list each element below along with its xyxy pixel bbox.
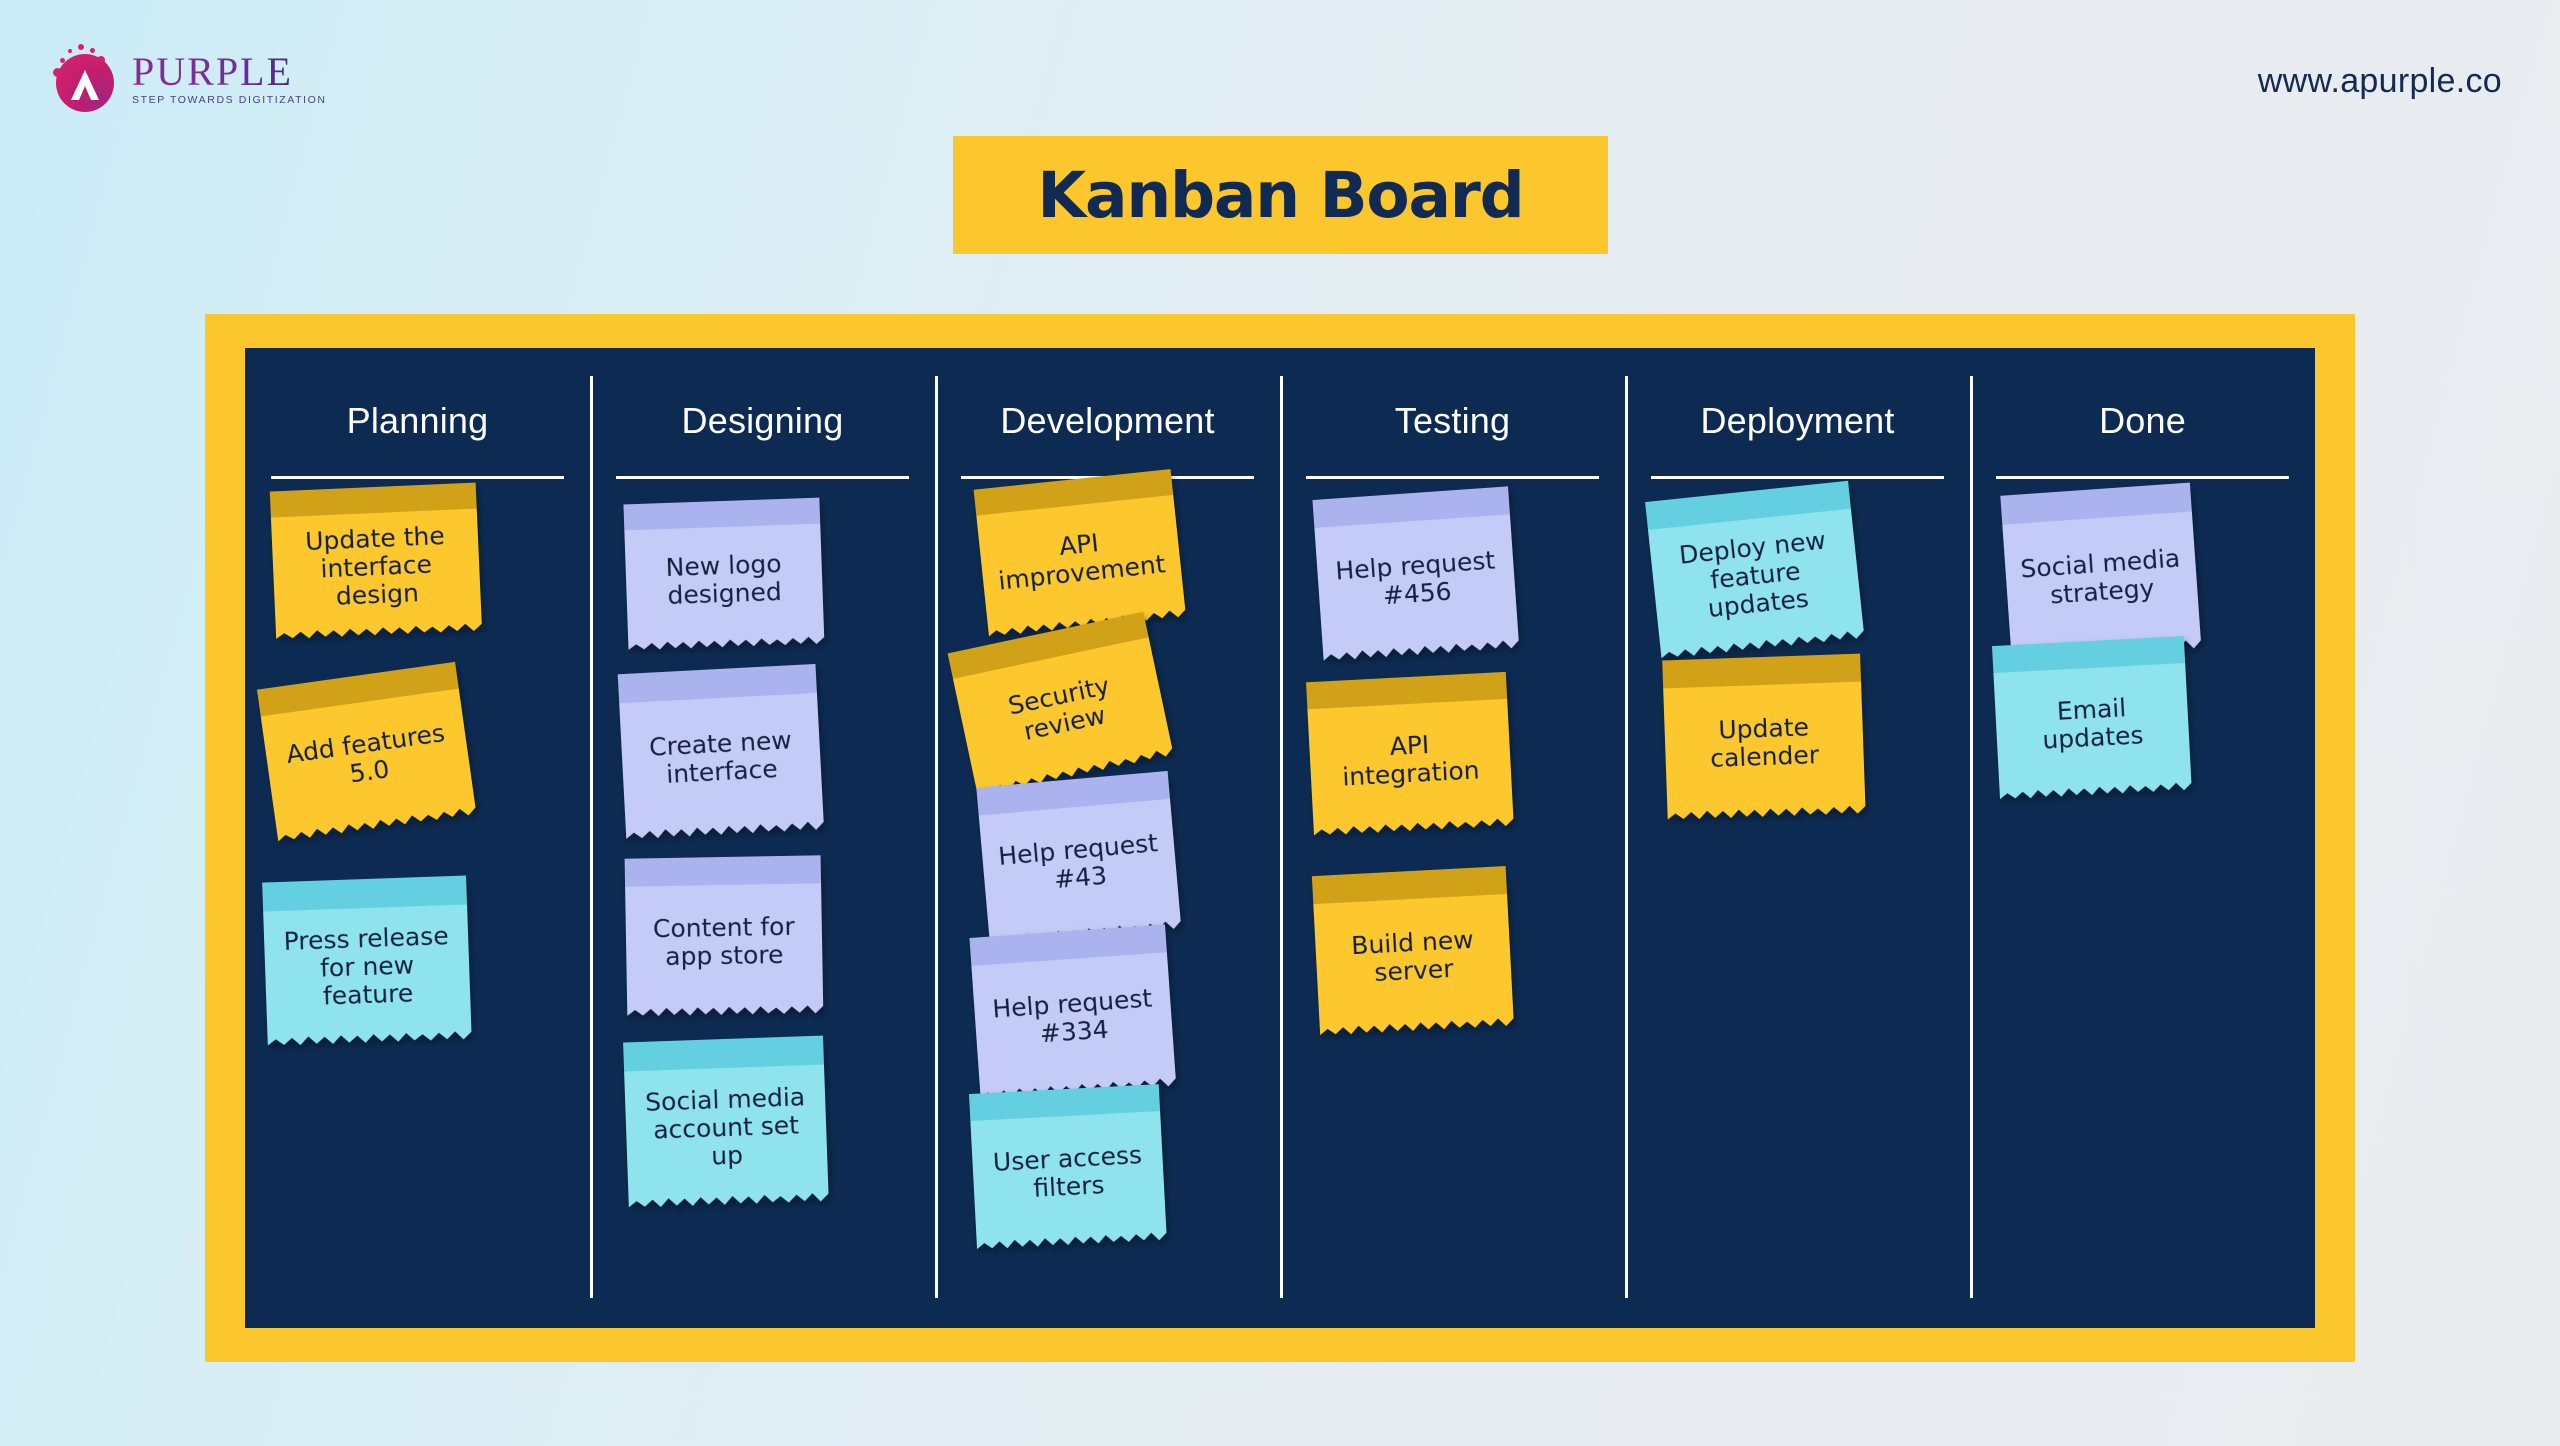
column-cards: Deploy new feature updatesUpdate calende… <box>1625 479 1970 1289</box>
column-cards: New logo designedCreate new interfaceCon… <box>590 479 935 1289</box>
brand-tagline: Step towards digitization <box>132 95 327 106</box>
sticky-note-text: Help request #334 <box>988 984 1159 1052</box>
sticky-note-text: Content for app store <box>640 913 809 972</box>
sticky-note-text: New logo designed <box>639 549 809 611</box>
sticky-note[interactable]: New logo designed <box>623 498 824 655</box>
sticky-note-text: Press release for new feature <box>278 922 457 1012</box>
sticky-note[interactable]: Deploy new feature updates <box>1645 481 1865 663</box>
sticky-note-glue-strip <box>618 664 817 703</box>
column-header-designing[interactable]: Designing <box>590 348 935 442</box>
sticky-note-glue-strip <box>1662 654 1861 689</box>
sticky-note-glue-strip <box>2000 483 2192 525</box>
sticky-note-text: Create new interface <box>635 726 808 791</box>
sticky-note-text: Build new server <box>1329 925 1498 990</box>
sticky-note-text: Email updates <box>2009 692 2176 757</box>
kanban-column-done: DoneSocial media strategyEmail updates <box>1970 348 2315 1328</box>
brand-name: PURPLE <box>132 52 327 92</box>
sticky-note[interactable]: Content for app store <box>625 855 824 1020</box>
kanban-column-designing: DesigningNew logo designedCreate new int… <box>590 348 935 1328</box>
sticky-note[interactable]: Add features 5.0 <box>257 662 477 846</box>
column-header-planning[interactable]: Planning <box>245 348 590 442</box>
column-cards: Help request #456API integrationBuild ne… <box>1280 479 1625 1289</box>
sticky-note-glue-strip <box>1312 486 1509 528</box>
sticky-note-text: Update the interface design <box>285 521 466 613</box>
sticky-note-glue-strip <box>262 875 467 911</box>
column-cards: Social media strategyEmail updates <box>1970 479 2315 1289</box>
kanban-column-planning: PlanningUpdate the interface designAdd f… <box>245 348 590 1328</box>
sticky-note[interactable]: API integration <box>1306 672 1514 840</box>
sticky-note-text: Social media strategy <box>2019 544 2185 611</box>
column-header-done[interactable]: Done <box>1970 348 2315 442</box>
kanban-column-deployment: DeploymentDeploy new feature updatesUpda… <box>1625 348 1970 1328</box>
sticky-note[interactable]: Email updates <box>1992 636 2192 804</box>
sticky-note-text: Social media account set up <box>639 1083 814 1173</box>
kanban-column-development: DevelopmentAPI improvementSecurity revie… <box>935 348 1280 1328</box>
sticky-note-glue-strip <box>257 662 459 716</box>
column-header-development[interactable]: Development <box>935 348 1280 442</box>
page-title: Kanban Board <box>1037 159 1523 232</box>
sticky-note[interactable]: Help request #456 <box>1312 486 1519 665</box>
column-header-testing[interactable]: Testing <box>1280 348 1625 442</box>
column-cards: API improvementSecurity reviewHelp reque… <box>935 479 1280 1289</box>
sticky-note[interactable]: Build new server <box>1312 866 1514 1040</box>
kanban-board: PlanningUpdate the interface designAdd f… <box>245 348 2315 1328</box>
kanban-board-frame: PlanningUpdate the interface designAdd f… <box>205 314 2355 1362</box>
sticky-note[interactable]: Update calender <box>1662 654 1866 825</box>
brand-logo[interactable]: PURPLE Step towards digitization <box>48 42 327 116</box>
title-banner: Kanban Board <box>953 136 1608 254</box>
sticky-note[interactable]: API improvement <box>974 469 1187 641</box>
sticky-note[interactable]: Help request #43 <box>976 771 1181 949</box>
sticky-note[interactable]: Create new interface <box>618 664 825 844</box>
sticky-note-glue-strip <box>625 855 821 886</box>
sticky-note-text: User access filters <box>986 1141 1151 1205</box>
sticky-note-glue-strip <box>1306 672 1507 709</box>
sticky-note-text: Update calender <box>1678 712 1850 774</box>
sticky-note-glue-strip <box>270 483 477 518</box>
sticky-note-text: Help request #456 <box>1331 546 1502 614</box>
column-cards: Update the interface designAdd features … <box>245 479 590 1289</box>
letter-a-glyph <box>70 68 100 102</box>
sticky-note-text: API integration <box>1323 728 1498 793</box>
sticky-note[interactable]: User access filters <box>969 1084 1167 1254</box>
sticky-note-glue-strip <box>1645 481 1851 530</box>
sticky-note-glue-strip <box>623 1036 824 1072</box>
kanban-column-testing: TestingHelp request #456API integrationB… <box>1280 348 1625 1328</box>
sticky-note[interactable]: Update the interface design <box>270 483 482 644</box>
sticky-note[interactable]: Help request #334 <box>969 924 1176 1103</box>
kanban-columns: PlanningUpdate the interface designAdd f… <box>245 348 2315 1328</box>
column-header-deployment[interactable]: Deployment <box>1625 348 1970 442</box>
sticky-note-glue-strip <box>623 498 820 530</box>
sticky-note[interactable]: Social media account set up <box>623 1036 829 1213</box>
website-url[interactable]: www.apurple.co <box>2258 62 2502 101</box>
sticky-note[interactable]: Security review <box>948 612 1175 800</box>
sticky-note-glue-strip <box>1312 866 1507 904</box>
apurple-a-logo-icon <box>48 42 122 116</box>
sticky-note[interactable]: Press release for new feature <box>262 875 472 1050</box>
